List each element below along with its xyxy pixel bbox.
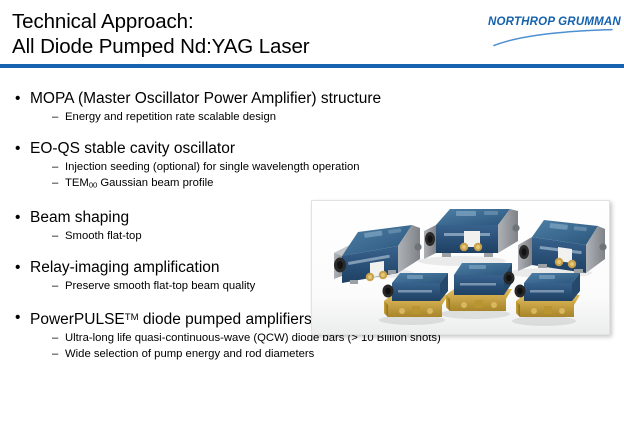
- bullet-level1-label: Beam shaping: [30, 209, 129, 226]
- dash-marker-icon: –: [52, 109, 58, 125]
- page-title: Technical Approach: All Diode Pumped Nd:…: [12, 9, 310, 59]
- bullet-marker-icon: •: [15, 207, 20, 228]
- bullet-level2-label: Wide selection of pump energy and rod di…: [65, 348, 314, 360]
- bullet-level2-label: Energy and repetition rate scalable desi…: [65, 111, 276, 123]
- bullet-level1-label: EO-QS stable cavity oscillator: [30, 140, 235, 157]
- brand-swoosh-icon: [488, 28, 614, 48]
- powerpulse-prefix: PowerPULSE: [30, 311, 125, 328]
- bullet-level1: • EO-QS stable cavity oscillator: [0, 138, 624, 159]
- dash-marker-icon: –: [52, 228, 58, 244]
- laser-modules-illustration: [312, 201, 609, 334]
- bullet-level1: • MOPA (Master Oscillator Power Amplifie…: [0, 88, 624, 109]
- dash-marker-icon: –: [52, 346, 58, 362]
- header-divider: [0, 64, 624, 68]
- dash-marker-icon: –: [52, 330, 58, 346]
- bullet-group-2: • EO-QS stable cavity oscillator – Injec…: [0, 138, 624, 194]
- bullet-level1-label: Relay-imaging amplification: [30, 259, 220, 276]
- slide-header: Technical Approach: All Diode Pumped Nd:…: [0, 0, 624, 68]
- dash-marker-icon: –: [52, 278, 58, 294]
- bullet-level2-label: Smooth flat-top: [65, 230, 142, 242]
- product-photo: [311, 200, 610, 335]
- tem-subscript: 00: [89, 181, 97, 190]
- bullet-marker-icon: •: [15, 88, 20, 109]
- dash-marker-icon: –: [52, 159, 58, 175]
- trademark-superscript: TM: [125, 312, 139, 323]
- bullet-level1-label: MOPA (Master Oscillator Power Amplifier)…: [30, 90, 381, 107]
- dash-marker-icon: –: [52, 175, 58, 191]
- bullet-level2: – Wide selection of pump energy and rod …: [0, 346, 624, 362]
- bullet-level2-tem: – TEM00 Gaussian beam profile: [0, 175, 624, 194]
- title-line-2: All Diode Pumped Nd:YAG Laser: [12, 34, 310, 59]
- bullet-level2-label: Preserve smooth flat-top beam quality: [65, 280, 255, 292]
- tem-suffix: Gaussian beam profile: [97, 177, 213, 189]
- bullet-level2-label: Injection seeding (optional) for single …: [65, 161, 360, 173]
- bullet-marker-icon: •: [15, 257, 20, 278]
- bullet-group-1: • MOPA (Master Oscillator Power Amplifie…: [0, 88, 624, 125]
- bullet-level2: – Energy and repetition rate scalable de…: [0, 109, 624, 125]
- tem-prefix: TEM: [65, 177, 89, 189]
- bullet-marker-icon: •: [15, 307, 20, 328]
- bullet-level2: – Injection seeding (optional) for singl…: [0, 159, 624, 175]
- brand-wordmark: NORTHROP GRUMMAN: [488, 16, 614, 28]
- title-line-1: Technical Approach:: [12, 9, 310, 34]
- northrop-grumman-logo: NORTHROP GRUMMAN: [488, 16, 614, 48]
- bullet-marker-icon: •: [15, 138, 20, 159]
